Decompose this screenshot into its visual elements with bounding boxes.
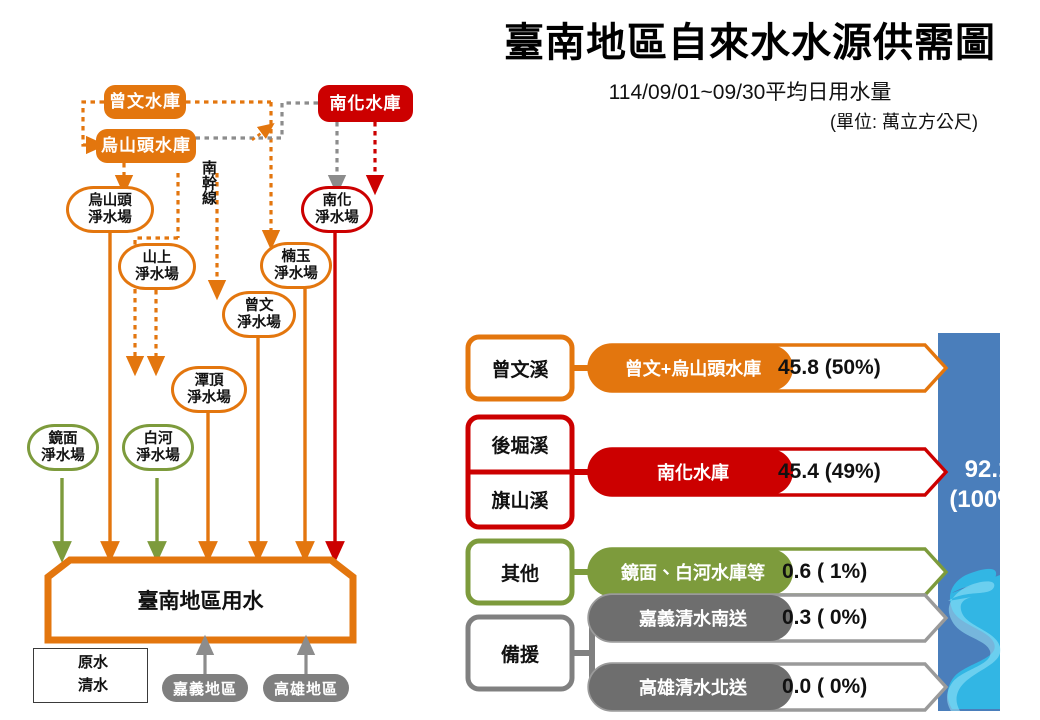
plant-jingmian-line2: 淨水場 (41, 448, 85, 464)
plant-wushantou-line1: 烏山頭 (88, 193, 132, 209)
plant-nanhua-line1: 南化 (323, 193, 352, 209)
plant-baihe-line2: 淨水場 (136, 448, 180, 464)
plant-shanshang-line2: 淨水場 (135, 267, 179, 283)
supply-demand-chart: 曾文溪 後堀溪 旗山溪 其他 備援 曾文+烏山頭水庫 南化水庫 鏡面、白河水庫等… (460, 325, 1040, 720)
source-label-other: 其他 (468, 541, 572, 603)
plant-jingmian[interactable]: 鏡面 淨水場 (27, 424, 99, 471)
title-block: 臺南地區自來水水源供需圖 114/09/01~09/30平均日用水量 (單位: … (470, 20, 1030, 134)
page-subtitle: 114/09/01~09/30平均日用水量 (470, 76, 1030, 106)
plant-nanhua[interactable]: 南化 淨水場 (301, 186, 373, 233)
plant-tanding-line1: 潭頂 (195, 373, 224, 389)
reservoir-wushantou-label: 烏山頭水庫 (101, 136, 191, 155)
source-label-zengwenxi: 曾文溪 (468, 337, 572, 399)
bar-label-chiayi-transfer: 嘉義清水南送 (618, 595, 768, 641)
plant-wushantou-line2: 淨水場 (88, 210, 132, 226)
poster-canvas: 臺南地區自來水水源供需圖 114/09/01~09/30平均日用水量 (單位: … (0, 0, 1040, 720)
legend-clean-water: 清水 (78, 674, 108, 695)
bar-value-zengwen-wushantou: 45.8 (50%) (778, 345, 938, 391)
plant-baihe[interactable]: 白河 淨水場 (122, 424, 194, 471)
source-label-houjuexi: 後堀溪 (468, 417, 572, 472)
pipeline-label-nanganxian: 南幹線 (200, 160, 216, 205)
unit-note: (單位: 萬立方公尺) (470, 108, 1030, 134)
legend-raw-water: 原水 (78, 651, 108, 672)
bar-value-chiayi-transfer: 0.3 ( 0%) (782, 595, 942, 641)
page-title: 臺南地區自來水水源供需圖 (470, 20, 1030, 66)
plant-baihe-line1: 白河 (144, 431, 173, 447)
plant-zengwen[interactable]: 曾文 淨水場 (222, 291, 296, 338)
plant-shanshang-line1: 山上 (143, 250, 172, 266)
reservoir-zengwen[interactable]: 曾文水庫 (104, 85, 186, 119)
bar-value-nanhua: 45.4 (49%) (778, 449, 938, 495)
plant-wushantou[interactable]: 烏山頭 淨水場 (66, 186, 154, 233)
plant-jingmian-line1: 鏡面 (49, 431, 78, 447)
bar-label-zengwen-wushantou: 曾文+烏山頭水庫 (618, 345, 768, 391)
plant-tanding-line2: 淨水場 (187, 390, 231, 406)
plant-nanhua-line2: 淨水場 (315, 210, 359, 226)
plant-nanyu[interactable]: 楠玉 淨水場 (260, 242, 332, 289)
plant-nanyu-line2: 淨水場 (274, 266, 318, 282)
bar-label-nanhua: 南化水庫 (618, 449, 768, 495)
region-pill-chiayi[interactable]: 嘉義地區 (162, 674, 248, 702)
reservoir-nanhua-label: 南化水庫 (330, 94, 402, 113)
reservoir-nanhua[interactable]: 南化水庫 (318, 85, 413, 122)
plant-shanshang[interactable]: 山上 淨水場 (118, 243, 196, 290)
source-label-backup: 備援 (468, 617, 572, 689)
plant-zengwen-line2: 淨水場 (237, 315, 281, 331)
total-percent: (100%) (938, 485, 1038, 515)
bar-label-kaohsiung-transfer: 高雄清水北送 (618, 664, 768, 710)
demand-box-label: 臺南地區用水 (48, 560, 353, 640)
plant-nanyu-line1: 楠玉 (282, 249, 311, 265)
bar-value-other-reservoirs: 0.6 ( 1%) (782, 549, 942, 595)
total-value: 92.1 (938, 455, 1038, 485)
bar-value-kaohsiung-transfer: 0.0 ( 0%) (782, 664, 942, 710)
source-label-qishanxi: 旗山溪 (468, 472, 572, 527)
reservoir-zengwen-label: 曾文水庫 (109, 92, 181, 111)
total-supply-readout: 92.1 (100%) (938, 455, 1038, 515)
reservoir-wushantou[interactable]: 烏山頭水庫 (96, 129, 196, 163)
region-pill-kaohsiung[interactable]: 高雄地區 (263, 674, 349, 702)
plant-tanding[interactable]: 潭頂 淨水場 (171, 366, 247, 413)
plant-zengwen-line1: 曾文 (245, 298, 274, 314)
water-flow-diagram: 曾文水庫 烏山頭水庫 南化水庫 南幹線 烏山頭 淨水場 山上 淨水場 楠玉 淨水… (0, 0, 470, 720)
bar-label-other-reservoirs: 鏡面、白河水庫等 (618, 549, 768, 595)
